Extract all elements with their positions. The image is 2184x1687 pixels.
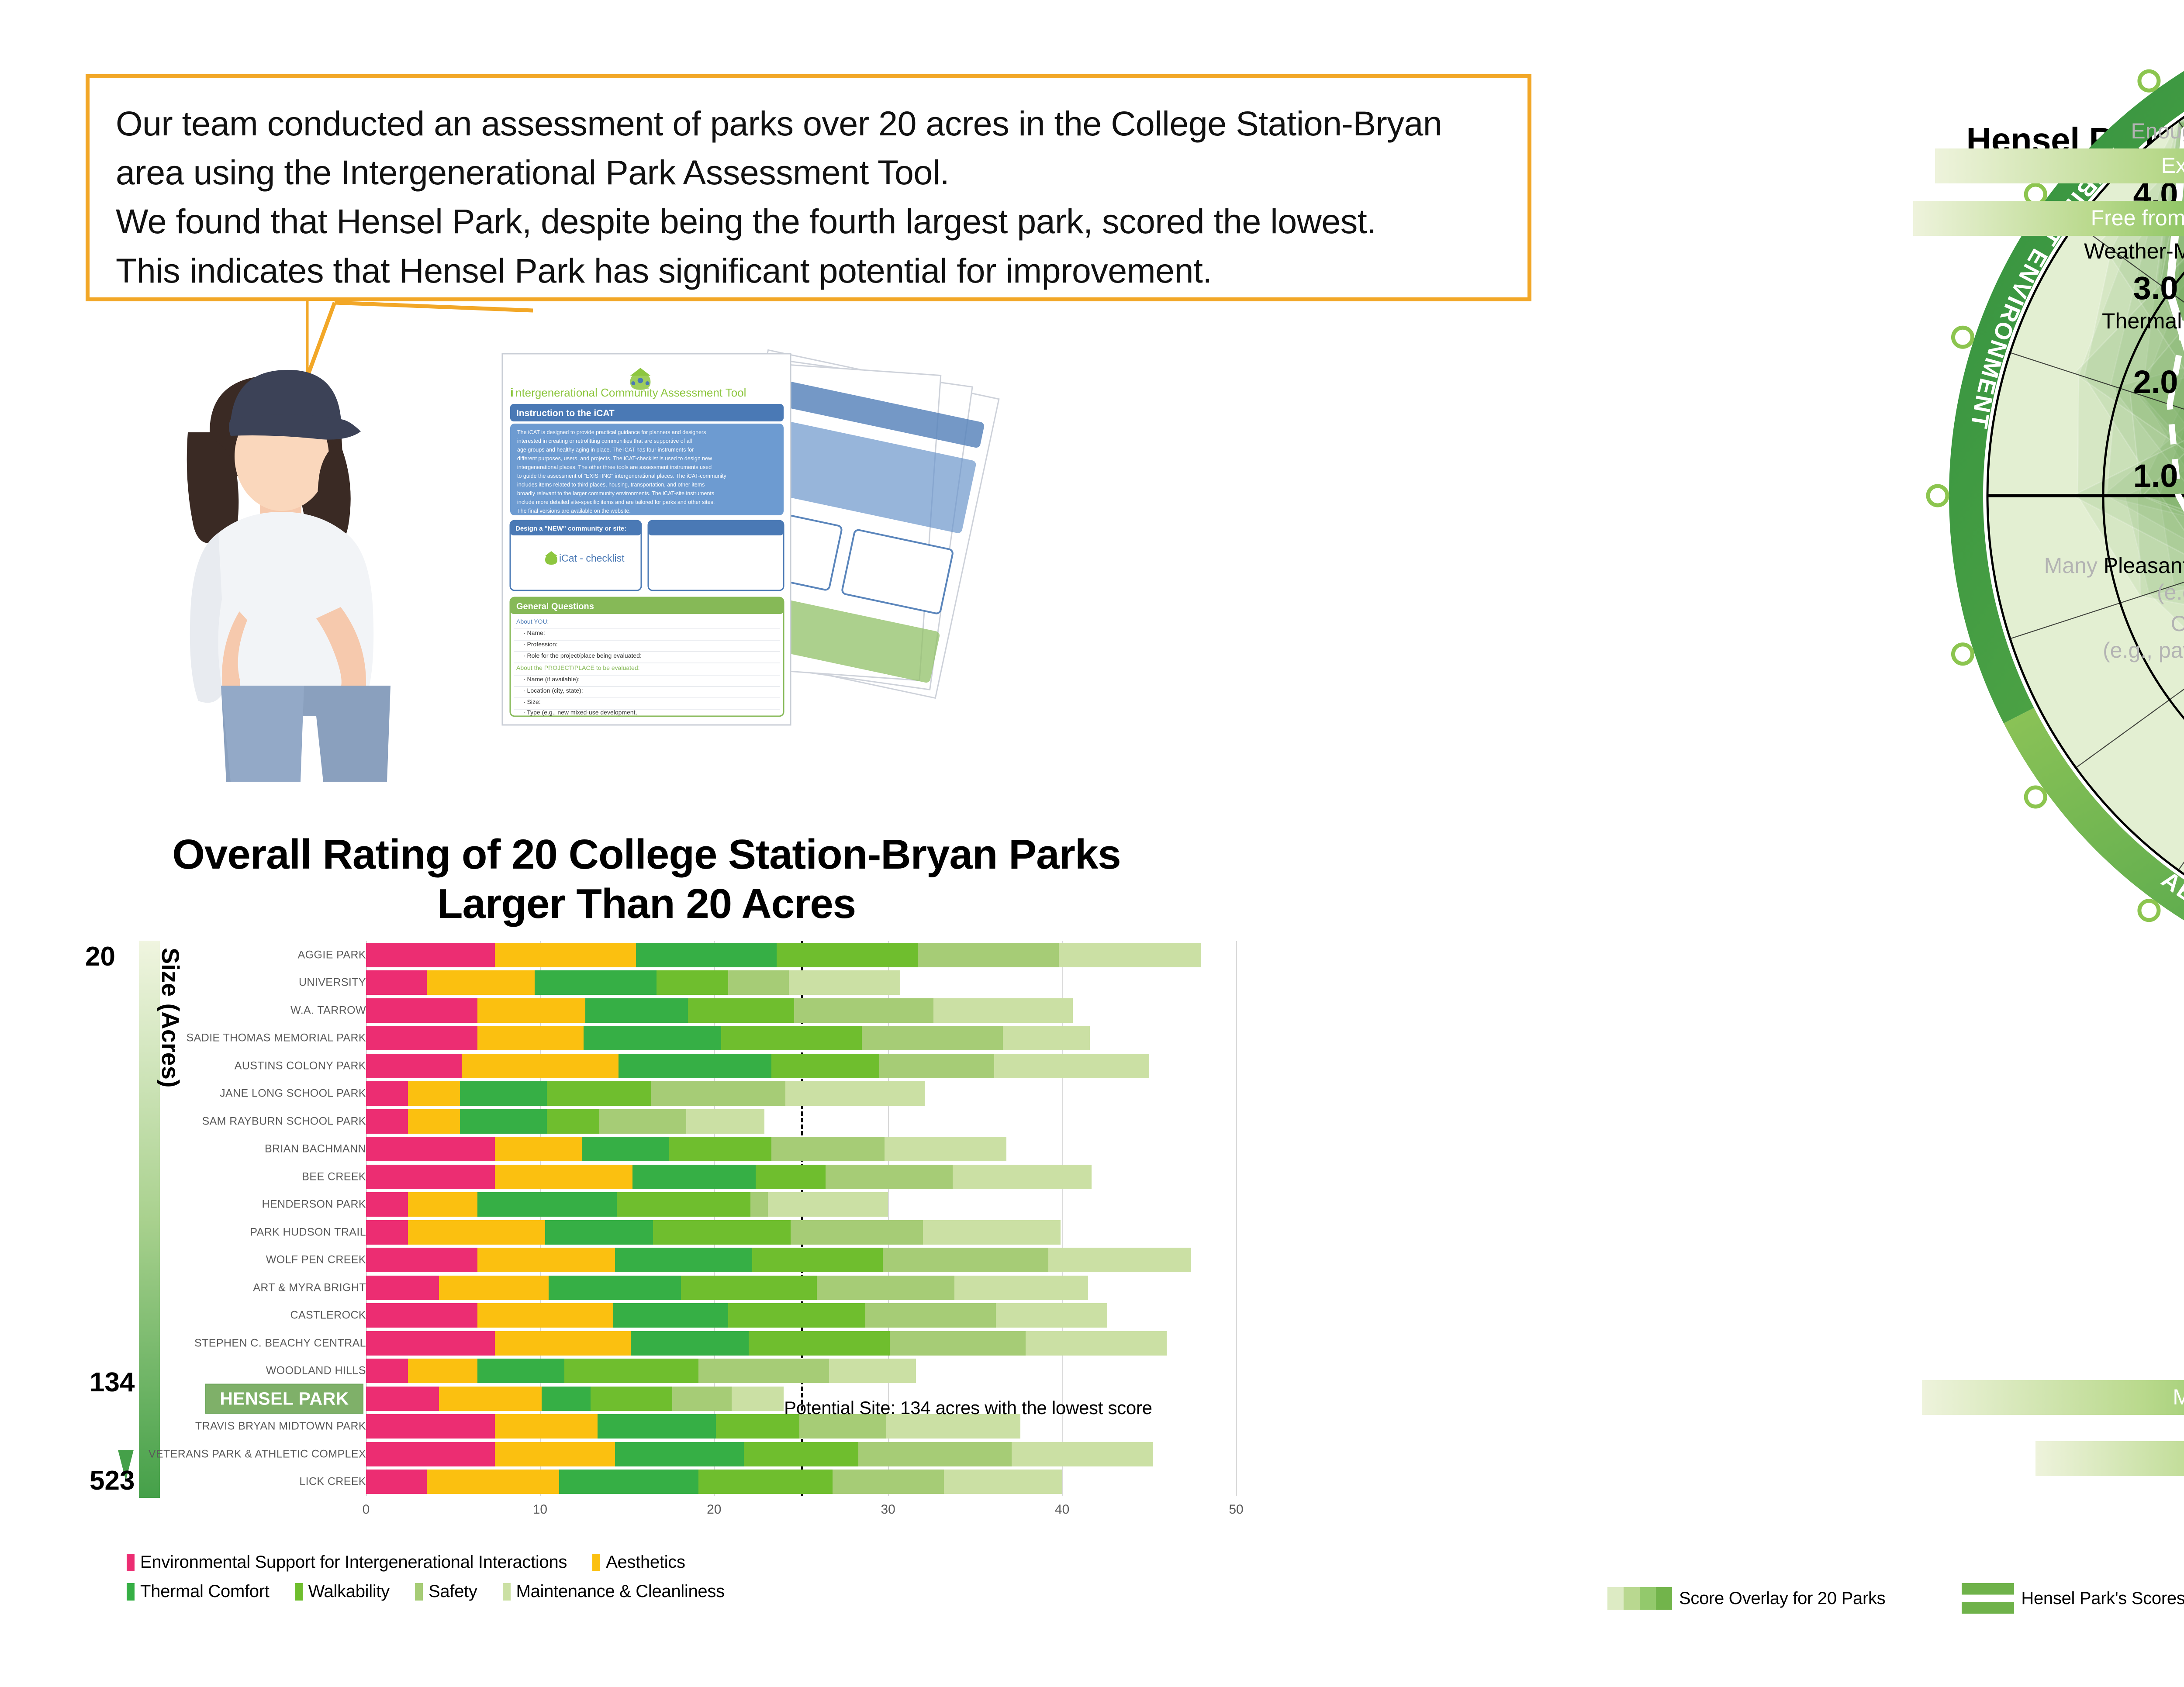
size-axis-label: Size (Acres): [156, 948, 185, 1088]
bar-row-segments: [366, 1442, 1236, 1466]
bar-row-label: HENDERSON PARK: [262, 1198, 366, 1211]
radar-label-free-from-litter: Free from Litter: [1791, 491, 2184, 518]
bar-segment: [794, 998, 933, 1023]
infographic-root: Our team conducted an assessment of park…: [0, 0, 2184, 1687]
gridline: [1236, 941, 1237, 1496]
bar-segment: [477, 1026, 584, 1050]
bar-segment: [495, 1165, 632, 1189]
bar-row: WOLF PEN CREEK: [205, 1248, 1236, 1272]
bar-segment: [366, 1220, 408, 1245]
bar-segment: [615, 1248, 753, 1272]
x-tick-label: 10: [533, 1502, 547, 1517]
bar-segment: [698, 1470, 833, 1494]
bar-segment: [1003, 1026, 1090, 1050]
bar-legend-row-1: Environmental Support for Intergeneratio…: [127, 1552, 1262, 1572]
bar-segment: [599, 1109, 686, 1134]
svg-text:· Name (if available):: · Name (if available):: [523, 676, 580, 683]
bar-segment: [495, 1414, 598, 1439]
bar-segment: [613, 1303, 728, 1328]
right-panel: Hensel Park Analysis with Overlay of Sco…: [1441, 0, 2184, 1687]
bar-row: CASTLEROCK: [205, 1303, 1236, 1328]
x-tick-label: 30: [881, 1502, 895, 1517]
bar-row-segments: [366, 943, 1236, 967]
radar-pill-exhaust-free: Exhaust-Free Park Environment: [1935, 148, 2184, 183]
legend-label-env-support: Environmental Support for Intergeneratio…: [140, 1552, 567, 1572]
bar-row-label: JANE LONG SCHOOL PARK: [220, 1087, 366, 1100]
bar-segment: [826, 1165, 953, 1189]
bar-segment: [535, 970, 657, 995]
bar-segment: [791, 1220, 923, 1245]
svg-text:interested in creating or retr: interested in creating or retrofitting c…: [517, 438, 692, 444]
bar-segment: [408, 1109, 460, 1134]
bar-segment: [460, 1081, 547, 1106]
x-tick-label: 20: [707, 1502, 721, 1517]
radar-label-sensory-prefix: Many: [2044, 553, 2104, 578]
radar-legend-item-overlay: Score Overlay for 20 Parks: [1607, 1587, 1885, 1610]
bar-segment: [944, 1470, 1062, 1494]
bar-segment: [752, 1248, 883, 1272]
bar-segment: [615, 1442, 744, 1466]
bar-segment: [817, 1276, 954, 1300]
legend-swatch-maintenance: [503, 1583, 511, 1601]
bar-segment: [366, 1248, 477, 1272]
bar-segment: [756, 1165, 825, 1189]
legend-swatch-thermal: [127, 1583, 135, 1601]
bar-segment: [591, 1387, 672, 1411]
bar-segment: [545, 1220, 653, 1245]
bar-row-label: SADIE THOMAS MEMORIAL PARK: [187, 1032, 366, 1045]
legend-item-aesthetics: Aesthetics: [592, 1552, 685, 1572]
x-tick-label: 40: [1055, 1502, 1069, 1517]
bar-segment: [366, 1470, 427, 1494]
bar-row-segments: [366, 1331, 1236, 1356]
svg-text:About the PROJECT/PLACE to be: About the PROJECT/PLACE to be evaluated:: [516, 664, 640, 671]
radar-legend-item-hensel: Hensel Park's Scores: [1962, 1583, 2184, 1614]
bar-row-segments: [366, 1137, 1236, 1161]
bar-row: HENDERSON PARK: [205, 1192, 1236, 1217]
bar-segment: [918, 943, 1059, 967]
radar-chart-legend: Score Overlay for 20 Parks Hensel Park's…: [1607, 1583, 2184, 1614]
legend-item-thermal: Thermal Comfort: [127, 1582, 270, 1601]
bar-segment: [1026, 1331, 1167, 1356]
bar-segment: [672, 1387, 731, 1411]
bar-segment: [460, 1109, 547, 1134]
radar-tick-1: 1.0: [2110, 456, 2184, 496]
bar-row-label: UNIVERSITY: [299, 976, 366, 989]
bar-row-segments: [366, 1109, 1236, 1134]
bar-segment: [785, 1081, 925, 1106]
legend-item-safety: Safety: [415, 1582, 477, 1601]
bar-segment: [408, 1081, 460, 1106]
svg-text:· Name:: · Name:: [523, 629, 545, 636]
bar-segment: [890, 1331, 1026, 1356]
bar-segment: [686, 1109, 764, 1134]
bar-row-label: W.A. TARROW: [290, 1004, 366, 1017]
bar-segment: [477, 998, 585, 1023]
legend-label-maintenance: Maintenance & Cleanliness: [516, 1582, 725, 1601]
bar-segment: [598, 1414, 716, 1439]
bar-segment: [636, 943, 777, 967]
legend-item-walkability: Walkability: [295, 1582, 390, 1601]
bar-row-label: AUSTINS COLONY PARK: [235, 1059, 366, 1072]
bar-segment: [1048, 1248, 1191, 1272]
bar-segment: [366, 1081, 408, 1106]
svg-text:intergenerational places. The: intergenerational places. The other thre…: [517, 464, 712, 470]
radar-label-social-prefix: Enough: [2131, 119, 2184, 143]
bar-segment: [495, 1331, 631, 1356]
bar-row-segments: [366, 1165, 1236, 1189]
legend-swatch-env-support: [127, 1554, 135, 1571]
bar-segment: [582, 1137, 669, 1161]
bar-row: AGGIE PARK: [205, 943, 1236, 967]
bar-row-segments: [366, 1220, 1236, 1245]
bar-row-label: WOLF PEN CREEK: [266, 1254, 366, 1266]
bar-row-label: SAM RAYBURN SCHOOL PARK: [202, 1115, 366, 1128]
radar-pill-free-noise: Free from Excessive Noise: [1913, 201, 2184, 236]
bar-segment: [632, 1165, 756, 1189]
bar-row: BEE CREEK: [205, 1165, 1236, 1189]
bar-legend-row-2: Thermal Comfort Walkability Safety Maint…: [127, 1582, 1262, 1601]
bar-row-segments: [366, 1276, 1236, 1300]
bar-title-line1: Overall Rating of 20 College Station-Bry…: [57, 830, 1236, 879]
bar-chart-x-axis: 01020304050: [366, 1502, 1236, 1524]
radar-pill-attractive-natural-sights: Many Attractive Natural Sights: [1922, 1380, 2184, 1415]
bar-segment: [744, 1442, 859, 1466]
radar-label-well-maintained: Well-Maintained: [1791, 411, 2184, 437]
bar-row-label: WOODLAND HILLS: [266, 1365, 366, 1377]
bar-row-label: BRIAN BACHMANN: [265, 1143, 366, 1156]
speech-line-1: Our team conducted an assessment of park…: [116, 99, 1501, 197]
svg-text:include more detailed site-spe: include more detailed site-specific item…: [517, 499, 715, 505]
bar-segment: [1012, 1442, 1153, 1466]
bar-chart-legend: Environmental Support for Intergeneratio…: [127, 1552, 1262, 1611]
bar-segment: [953, 1165, 1092, 1189]
bar-segment: [879, 1054, 994, 1078]
speech-line-3: This indicates that Hensel Park has sign…: [116, 246, 1501, 295]
x-tick-label: 0: [363, 1502, 370, 1517]
bar-segment: [366, 1331, 495, 1356]
radar-tick-2: 2.0: [2110, 362, 2184, 402]
bar-segment: [885, 1137, 1006, 1161]
size-bottom-value: 523: [90, 1465, 135, 1496]
person-illustration: [135, 345, 441, 782]
bar-row-label: BEE CREEK: [302, 1170, 366, 1183]
bar-segment: [427, 1470, 559, 1494]
bar-segment: [477, 1303, 613, 1328]
bar-segment: [366, 1109, 408, 1134]
bar-segment: [862, 1026, 1003, 1050]
potential-site-annotation: Potential Site: 134 acres with the lowes…: [784, 1397, 1152, 1418]
bar-segment: [366, 970, 427, 995]
bar-row-label: LICK CREEK: [299, 1476, 366, 1488]
bar-segment: [923, 1220, 1061, 1245]
bar-segment: [657, 970, 728, 995]
bar-row: SADIE THOMAS MEMORIAL PARK: [205, 1026, 1236, 1050]
bar-segment: [366, 943, 495, 967]
radar-label-weather-line1: Weather-Mitigating Vegetation: [1817, 238, 2184, 265]
radar-legend-swatch-hensel: [1962, 1583, 2014, 1614]
bar-segment: [439, 1276, 549, 1300]
bar-segment: [408, 1359, 477, 1383]
bar-segment: [564, 1359, 698, 1383]
bar-segment: [495, 1442, 615, 1466]
bar-segment: [477, 1248, 615, 1272]
bar-segment: [865, 1303, 996, 1328]
legend-item-env-support: Environmental Support for Intergeneratio…: [127, 1552, 567, 1572]
bar-segment: [771, 1137, 885, 1161]
svg-text:Instruction to the iCAT: Instruction to the iCAT: [516, 408, 615, 418]
bar-row-label: VETERANS PARK & ATHLETIC COMPLEX: [149, 1448, 366, 1460]
bar-row: LICK CREEK: [205, 1470, 1236, 1494]
bar-segment: [858, 1442, 1012, 1466]
bar-segment: [1059, 943, 1202, 967]
bar-segment: [749, 1331, 890, 1356]
bar-row: WOODLAND HILLS: [205, 1359, 1236, 1383]
radar-label-weather-line2: and Materials: [1817, 265, 2184, 291]
bar-segment: [996, 1303, 1107, 1328]
bar-segment: [768, 1192, 888, 1217]
bar-row: UNIVERSITY: [205, 970, 1236, 995]
speech-bubble: Our team conducted an assessment of park…: [86, 74, 1531, 301]
bar-segment: [617, 1192, 751, 1217]
bar-segment: [750, 1192, 768, 1217]
svg-text:· Size:: · Size:: [523, 698, 541, 705]
bar-segment: [559, 1470, 698, 1494]
bar-row-label: PARK HUDSON TRAIL: [250, 1226, 366, 1239]
bar-row: BRIAN BACHMANN: [205, 1137, 1236, 1161]
svg-text:to guide the assessment of "EX: to guide the assessment of "EXISTING" in…: [517, 473, 727, 479]
legend-item-maintenance: Maintenance & Cleanliness: [503, 1582, 725, 1601]
bar-row-segments: [366, 1470, 1236, 1494]
bar-row-segments: [366, 1248, 1236, 1272]
bar-row-segments: [366, 1026, 1236, 1050]
bar-row: JANE LONG SCHOOL PARK: [205, 1081, 1236, 1106]
bar-segment: [651, 1081, 785, 1106]
bar-segment: [408, 1192, 477, 1217]
bar-segment: [933, 998, 1073, 1023]
svg-text:different purposes, users, and: different purposes, users, and projects.…: [517, 455, 712, 462]
svg-text:General Questions: General Questions: [516, 602, 594, 611]
bar-segment: [619, 1054, 772, 1078]
bar-row-segments: [366, 998, 1236, 1023]
radar-label-sights-note: (e.g., pavilions and landmarks): [1704, 637, 2184, 664]
radar-pill-many-mature-trees: Many Mature Trees: [2035, 1441, 2184, 1476]
bar-segment: [954, 1276, 1089, 1300]
svg-text:iCat - checklist: iCat - checklist: [559, 552, 625, 564]
bar-row-label: ART & MYRA BRIGHT: [253, 1281, 366, 1294]
radar-label-sensory-note: (e.g., sounds of nature): [1704, 579, 2184, 606]
speech-line-2: We found that Hensel Park, despite being…: [116, 197, 1501, 246]
assessment-document-stack: i ntergenerational Community Assessment …: [472, 345, 1048, 782]
radar-legend-label-overlay: Score Overlay for 20 Parks: [1679, 1589, 1885, 1608]
bar-segment: [681, 1276, 817, 1300]
bar-segment: [631, 1331, 749, 1356]
svg-text:· Profession:: · Profession:: [523, 641, 558, 648]
bar-segment: [408, 1220, 546, 1245]
bar-row: ART & MYRA BRIGHT: [205, 1276, 1236, 1300]
bar-row-label: TRAVIS BRYAN MIDTOWN PARK: [195, 1420, 366, 1433]
radar-label-sights-prefix: Other: [2171, 611, 2184, 636]
bar-row-segments: [366, 1359, 1236, 1383]
bar-segment: [495, 943, 636, 967]
bar-segment: [883, 1248, 1048, 1272]
size-mid-value: 134: [90, 1367, 135, 1398]
bar-segment: [366, 1387, 439, 1411]
bar-segment: [366, 1137, 495, 1161]
legend-label-thermal: Thermal Comfort: [140, 1582, 270, 1601]
bar-segment: [542, 1387, 591, 1411]
bar-segment: [366, 1054, 462, 1078]
bar-row-label: STEPHEN C. BEACHY CENTRAL: [194, 1337, 366, 1349]
radar-legend-swatch-overlay: [1607, 1587, 1672, 1610]
svg-text:· Role for the project/place: · Role for the project/place being evalu…: [523, 652, 642, 659]
svg-text:The final versions are availab: The final versions are available on the …: [517, 508, 631, 514]
bar-segment: [547, 1109, 599, 1134]
radar-legend-label-hensel: Hensel Park's Scores: [2021, 1589, 2184, 1608]
bar-row: AUSTINS COLONY PARK: [205, 1054, 1236, 1078]
bar-chart-title: Overall Rating of 20 College Station-Bry…: [57, 830, 1236, 929]
svg-text:i: i: [510, 386, 514, 399]
bar-segment: [366, 1442, 495, 1466]
bar-title-line2: Larger Than 20 Acres: [57, 879, 1236, 928]
legend-swatch-safety: [415, 1583, 423, 1601]
bar-segment: [477, 1192, 617, 1217]
bar-row-label: AGGIE PARK: [298, 949, 366, 961]
bar-segment: [789, 970, 900, 995]
legend-label-safety: Safety: [429, 1582, 477, 1601]
legend-label-aesthetics: Aesthetics: [606, 1552, 685, 1572]
bar-segment: [653, 1220, 791, 1245]
bar-row-segments: [366, 1192, 1236, 1217]
bar-segment: [366, 1165, 495, 1189]
radar-label-thermal-line1: Thermal Comfort-Enhancing: [1813, 308, 2184, 335]
bar-segment: [584, 1026, 721, 1050]
bar-segment: [477, 1359, 564, 1383]
solid-line-icon: [1962, 1595, 2014, 1602]
bar-segment: [833, 1470, 944, 1494]
svg-text:About YOU:: About YOU:: [516, 618, 549, 625]
bar-segment: [777, 943, 918, 967]
radar-label-thermal-comfort: Thermal Comfort-Enhancing Park Design: [1813, 308, 2184, 361]
bar-segment: [366, 1192, 408, 1217]
bar-row-segments: [366, 1303, 1236, 1328]
size-axis-arrow: [87, 935, 205, 1498]
bar-segment: [366, 1276, 439, 1300]
bar-segment: [721, 1026, 862, 1050]
bar-segment: [728, 970, 789, 995]
bar-segment: [439, 1387, 542, 1411]
bar-segment: [547, 1081, 651, 1106]
bar-segment: [495, 1137, 582, 1161]
svg-text:Design a "NEW" community or si: Design a "NEW" community or site:: [515, 525, 626, 532]
bar-segment: [698, 1359, 829, 1383]
radar-label-interesting-sights: Other Interesting Sights (e.g., pavilion…: [1704, 611, 2184, 664]
bar-segment: [585, 998, 688, 1023]
bar-segment: [771, 1054, 879, 1078]
legend-swatch-walkability: [295, 1583, 303, 1601]
svg-text:ntergenerational Community Ass: ntergenerational Community Assessment To…: [515, 386, 746, 399]
bar-segment: [669, 1137, 771, 1161]
bar-row-segments: [366, 1081, 1236, 1106]
bar-segment: [366, 1359, 408, 1383]
bar-segment: [829, 1359, 916, 1383]
svg-text:age groups and healthy aging i: age groups and healthy aging in place. T…: [517, 447, 694, 453]
svg-text:· Location (city, state):: · Location (city, state):: [523, 687, 583, 694]
radar-label-thermal-line2: Park Design: [1813, 335, 2184, 361]
bar-segment: [688, 998, 794, 1023]
bar-segment: [366, 1026, 477, 1050]
radar-label-weather-mitigating: Weather-Mitigating Vegetation and Materi…: [1817, 238, 2184, 291]
legend-label-walkability: Walkability: [308, 1582, 390, 1601]
legend-swatch-aesthetics: [592, 1554, 600, 1571]
x-tick-label: 50: [1229, 1502, 1243, 1517]
svg-text:broadly relevant to the larger: broadly relevant to the larger community…: [517, 490, 714, 497]
radar-label-sensory-main: Pleasant Sensory Attractions: [2104, 553, 2184, 578]
bar-row: VETERANS PARK & ATHLETIC COMPLEX: [205, 1442, 1236, 1466]
bar-segment: [994, 1054, 1149, 1078]
bar-row-label: CASTLEROCK: [290, 1309, 366, 1322]
bar-row: PARK HUDSON TRAIL: [205, 1220, 1236, 1245]
svg-text:includes items related to thir: includes items related to third places, …: [517, 482, 705, 488]
bar-row: SAM RAYBURN SCHOOL PARK: [205, 1109, 1236, 1134]
radar-label-sensory-attractions: Many Pleasant Sensory Attractions (e.g.,…: [1704, 552, 2184, 606]
bar-row-segments: [366, 1054, 1236, 1078]
left-panel: Our team conducted an assessment of park…: [0, 0, 1441, 1687]
bar-segment: [549, 1276, 681, 1300]
svg-text:The iCAT is designed to provid: The iCAT is designed to provide practica…: [517, 429, 706, 435]
bar-segment: [462, 1054, 619, 1078]
svg-text:· Type (e.g., new mixed-use: · Type (e.g., new mixed-use development,: [523, 709, 637, 716]
bar-row: STEPHEN C. BEACHY CENTRAL: [205, 1331, 1236, 1356]
bar-row-segments: [366, 970, 1236, 995]
bar-segment: [366, 998, 477, 1023]
bar-segment: [366, 1414, 495, 1439]
bar-segment: [728, 1303, 866, 1328]
radar-label-social-spaces: Enough Social Spaces: [2044, 118, 2184, 145]
bar-segment: [427, 970, 535, 995]
bar-row-label: HENSEL PARK: [205, 1383, 363, 1414]
bar-segment: [732, 1387, 784, 1411]
size-top-value: 20: [85, 941, 115, 972]
bar-segment: [366, 1303, 477, 1328]
bar-row: W.A. TARROW: [205, 998, 1236, 1023]
